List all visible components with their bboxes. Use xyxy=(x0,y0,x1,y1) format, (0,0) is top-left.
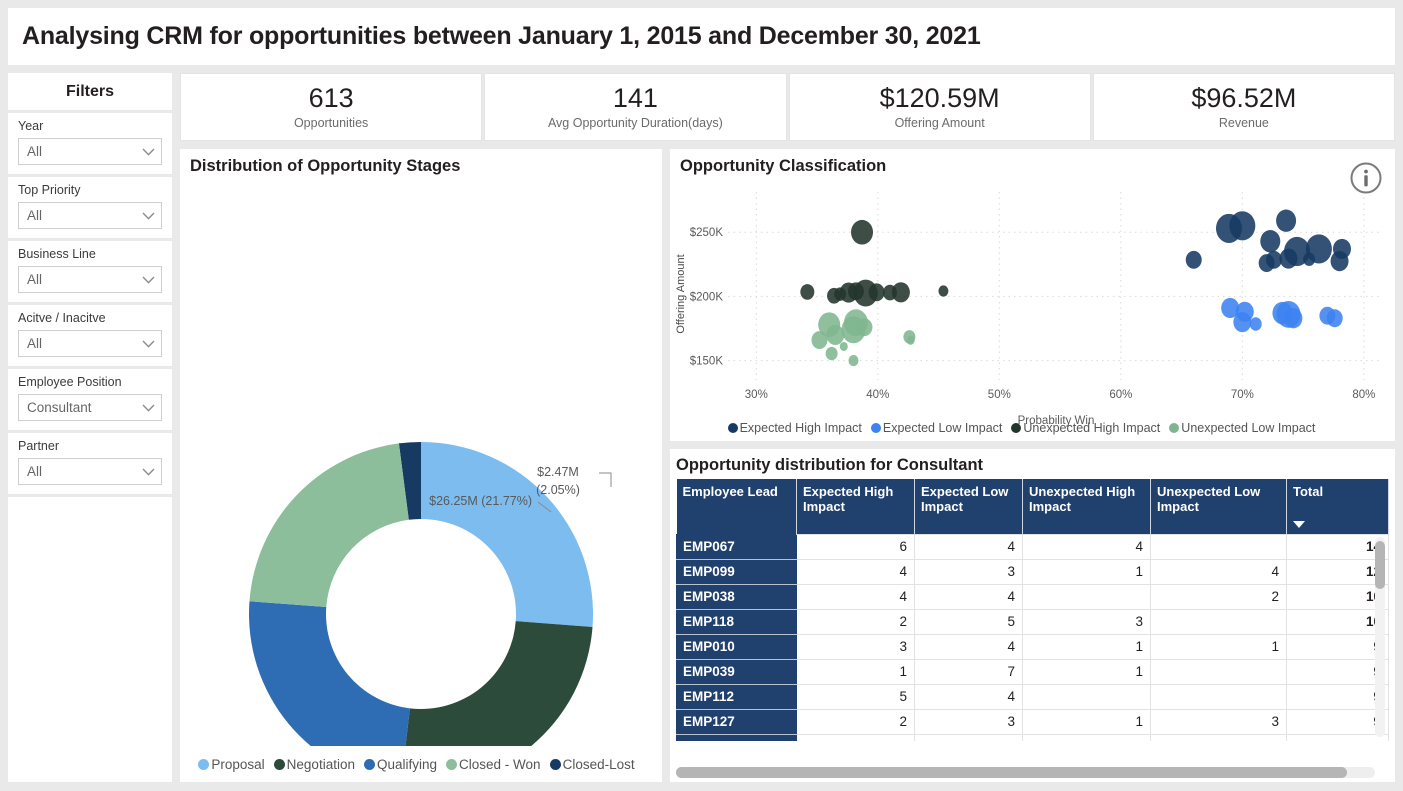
scatter-point[interactable] xyxy=(892,282,910,302)
scatter-xaxis-tick: 60% xyxy=(1109,389,1132,401)
filter-top-priority-label: Top Priority xyxy=(18,183,162,197)
table-row[interactable]: EMP06764414 xyxy=(677,534,1389,559)
filter-employee-position-label: Employee Position xyxy=(18,375,162,389)
table-cell-unexpected-high-impact xyxy=(1023,584,1151,609)
legend-label: Expected High Impact xyxy=(740,421,862,435)
kpi-revenue-label: Revenue xyxy=(1219,116,1269,130)
filter-year: Year All xyxy=(8,113,172,177)
filter-top-priority-value: All xyxy=(27,208,42,223)
scatter-point[interactable] xyxy=(1233,312,1251,332)
table-cell-expected-low-impact: 3 xyxy=(915,709,1023,734)
table-cell-unexpected-low-impact xyxy=(1151,534,1287,559)
scatter-point[interactable] xyxy=(849,355,859,366)
donut-chart[interactable]: $2.47M(2.05%)$31.6M (26.2%)$30.94M (25.6… xyxy=(180,176,662,746)
scatter-point[interactable] xyxy=(840,342,848,351)
column-header-employee-lead[interactable]: Employee Lead xyxy=(677,479,797,534)
table-cell-unexpected-low-impact xyxy=(1151,734,1287,741)
table-cell-unexpected-high-impact: 1 xyxy=(1023,734,1151,741)
dashboard-title-bar: Analysing CRM for opportunities between … xyxy=(8,8,1395,65)
table-horizontal-scroll-thumb[interactable] xyxy=(676,767,1347,778)
scatter-yaxis-label: Offering Amount xyxy=(675,254,687,333)
scatter-xaxis-tick: 80% xyxy=(1352,389,1375,401)
legend-label: Qualifying xyxy=(377,757,437,772)
legend-label: Negotiation xyxy=(287,757,355,772)
legend-color-dot xyxy=(446,759,457,770)
donut-chart-title: Distribution of Opportunity Stages xyxy=(180,149,662,176)
table-cell-total: 9 xyxy=(1287,684,1389,709)
donut-label-leader-line xyxy=(599,473,611,487)
filter-active-inactive: Acitve / Inacitve All xyxy=(8,305,172,369)
filter-active-inactive-label: Acitve / Inacitve xyxy=(18,311,162,325)
table-cell-expected-low-impact: 4 xyxy=(915,684,1023,709)
scatter-point[interactable] xyxy=(1250,317,1262,330)
table-cell-employee-lead: EMP010 xyxy=(677,634,797,659)
scatter-point[interactable] xyxy=(869,283,885,301)
table-cell-unexpected-high-impact: 3 xyxy=(1023,609,1151,634)
column-header-expected-high-impact[interactable]: Expected High Impact xyxy=(797,479,915,534)
filter-employee-position-dropdown[interactable]: Consultant xyxy=(18,394,162,421)
kpi-row: 613 Opportunities 141 Avg Opportunity Du… xyxy=(180,73,1395,141)
table-cell-employee-lead: EMP118 xyxy=(677,609,797,634)
filter-partner-value: All xyxy=(27,464,42,479)
legend-color-dot xyxy=(550,759,561,770)
table-cell-unexpected-high-impact: 1 xyxy=(1023,709,1151,734)
table-cell-employee-lead: EMP127 xyxy=(677,709,797,734)
scatter-yaxis-tick: $150K xyxy=(690,356,724,368)
legend-label: Unexpected Low Impact xyxy=(1181,421,1315,435)
table-cell-employee-lead: EMP019 xyxy=(677,734,797,741)
scatter-yaxis-tick: $200K xyxy=(690,291,724,303)
sort-descending-icon[interactable] xyxy=(1293,521,1305,528)
table-cell-expected-high-impact: 2 xyxy=(797,609,915,634)
filter-year-label: Year xyxy=(18,119,162,133)
legend-item[interactable]: Negotiation xyxy=(274,757,355,772)
filter-business-line-label: Business Line xyxy=(18,247,162,261)
column-header-unexpected-low-impact[interactable]: Unexpected Low Impact xyxy=(1151,479,1287,534)
table-cell-unexpected-low-impact: 2 xyxy=(1151,584,1287,609)
chevron-down-icon xyxy=(142,276,155,284)
legend-label: Proposal xyxy=(211,757,264,772)
scatter-xaxis-tick: 30% xyxy=(745,389,768,401)
table-cell-expected-high-impact: 1 xyxy=(797,659,915,684)
table-cell-unexpected-low-impact: 4 xyxy=(1151,559,1287,584)
scatter-xaxis-tick: 50% xyxy=(988,389,1011,401)
column-header-total-label: Total xyxy=(1293,484,1323,499)
table-row[interactable]: EMP11825310 xyxy=(677,609,1389,634)
table-cell-expected-high-impact: 4 xyxy=(797,559,915,584)
filter-business-line-dropdown[interactable]: All xyxy=(18,266,162,293)
table-row[interactable]: EMP0391719 xyxy=(677,659,1389,684)
table-cell-unexpected-high-impact: 1 xyxy=(1023,634,1151,659)
kpi-offering-amount-value: $120.59M xyxy=(880,84,1000,112)
kpi-opportunities[interactable]: 613 Opportunities xyxy=(180,73,482,141)
table-cell-expected-low-impact: 4 xyxy=(915,734,1023,741)
scatter-point[interactable] xyxy=(1284,308,1302,328)
table-cell-expected-low-impact: 3 xyxy=(915,559,1023,584)
legend-label: Closed - Won xyxy=(459,757,541,772)
legend-item[interactable]: Qualifying xyxy=(364,757,437,772)
scatter-point[interactable] xyxy=(1327,309,1343,327)
scatter-point[interactable] xyxy=(826,325,844,345)
column-header-total[interactable]: Total xyxy=(1287,479,1389,534)
scatter-point[interactable] xyxy=(1186,251,1202,269)
chevron-down-icon xyxy=(142,340,155,348)
table-row[interactable]: EMP0193418 xyxy=(677,734,1389,741)
legend-item[interactable]: Closed - Won xyxy=(446,757,541,772)
table-cell-total: 9 xyxy=(1287,659,1389,684)
scatter-point[interactable] xyxy=(1280,248,1298,268)
table-vertical-scrollbar[interactable] xyxy=(1375,541,1385,589)
scatter-point[interactable] xyxy=(1276,209,1296,231)
table-cell-expected-high-impact: 5 xyxy=(797,684,915,709)
legend-item[interactable]: Expected Low Impact xyxy=(871,421,1003,435)
scatter-point[interactable] xyxy=(1229,211,1255,240)
scatter-point[interactable] xyxy=(811,331,827,349)
scatter-xaxis-tick: 40% xyxy=(866,389,889,401)
table-title: Opportunity distribution for Consultant xyxy=(670,449,1395,479)
filters-sidebar: Filters Year All Top Priority All Busine… xyxy=(8,73,172,782)
table-cell-unexpected-high-impact xyxy=(1023,684,1151,709)
legend-color-dot xyxy=(364,759,375,770)
table-row[interactable]: EMP01034119 xyxy=(677,634,1389,659)
scatter-point[interactable] xyxy=(1331,251,1349,271)
chevron-down-icon xyxy=(142,148,155,156)
column-header-unexpected-high-impact[interactable]: Unexpected High Impact xyxy=(1023,479,1151,534)
kpi-avg-duration-value: 141 xyxy=(613,84,658,112)
filter-active-inactive-value: All xyxy=(27,336,42,351)
table-cell-total: 9 xyxy=(1287,634,1389,659)
scatter-point[interactable] xyxy=(856,318,872,336)
table-cell-unexpected-low-impact: 3 xyxy=(1151,709,1287,734)
table-cell-total: 14 xyxy=(1287,534,1389,559)
donut-slice-label: $2.47M xyxy=(537,465,579,479)
scatter-point[interactable] xyxy=(800,284,814,300)
right-column: Opportunity Classification 30%40%50%60%7… xyxy=(670,149,1395,782)
table-row[interactable]: EMP099431412 xyxy=(677,559,1389,584)
table-cell-unexpected-low-impact: 1 xyxy=(1151,634,1287,659)
chevron-down-icon xyxy=(142,468,155,476)
scatter-point[interactable] xyxy=(1303,252,1315,265)
donut-slice-label: (2.05%) xyxy=(536,483,580,497)
legend-color-dot xyxy=(1169,423,1179,433)
dashboard-page: Analysing CRM for opportunities between … xyxy=(0,0,1403,791)
table-cell-expected-low-impact: 7 xyxy=(915,659,1023,684)
filter-active-inactive-dropdown[interactable]: All xyxy=(18,330,162,357)
legend-item[interactable]: Closed-Lost xyxy=(550,757,635,772)
page-title: Analysing CRM for opportunities between … xyxy=(22,22,981,51)
kpi-opportunities-label: Opportunities xyxy=(294,116,368,130)
table-cell-expected-high-impact: 2 xyxy=(797,709,915,734)
chevron-down-icon xyxy=(142,212,155,220)
scatter-point[interactable] xyxy=(907,336,915,345)
table-cell-expected-low-impact: 4 xyxy=(915,534,1023,559)
scatter-plot-svg[interactable]: 30%40%50%60%70%80%$150K$200K$250K Probab… xyxy=(670,176,1382,434)
scatter-point[interactable] xyxy=(938,285,948,296)
legend-label: Expected Low Impact xyxy=(883,421,1003,435)
table-cell-expected-high-impact: 3 xyxy=(797,634,915,659)
table-cell-total: 9 xyxy=(1287,709,1389,734)
scatter-chart-title: Opportunity Classification xyxy=(670,149,1395,176)
legend-label: Unexpected High Impact xyxy=(1023,421,1160,435)
scatter-xaxis-tick: 70% xyxy=(1231,389,1254,401)
opportunity-distribution-panel: Opportunity distribution for Consultant … xyxy=(670,449,1395,782)
filter-year-dropdown[interactable]: All xyxy=(18,138,162,165)
info-icon[interactable] xyxy=(1349,161,1383,195)
filters-heading: Filters xyxy=(8,73,172,113)
legend-item[interactable]: Expected High Impact xyxy=(728,421,862,435)
table-cell-total: 10 xyxy=(1287,584,1389,609)
legend-color-dot xyxy=(274,759,285,770)
filter-top-priority: Top Priority All xyxy=(8,177,172,241)
opportunity-stages-panel: Distribution of Opportunity Stages $2.47… xyxy=(180,149,662,782)
table-cell-total: 12 xyxy=(1287,559,1389,584)
filter-employee-position-value: Consultant xyxy=(27,400,92,415)
donut-legend: ProposalNegotiationQualifyingClosed - Wo… xyxy=(180,757,662,772)
donut-slice[interactable] xyxy=(401,621,593,746)
opportunity-distribution-table: Employee Lead Expected High Impact Expec… xyxy=(676,479,1389,741)
main-content: 613 Opportunities 141 Avg Opportunity Du… xyxy=(180,73,1395,782)
table-cell-unexpected-low-impact xyxy=(1151,609,1287,634)
filter-business-line-value: All xyxy=(27,272,42,287)
kpi-offering-amount[interactable]: $120.59M Offering Amount xyxy=(789,73,1091,141)
kpi-avg-duration[interactable]: 141 Avg Opportunity Duration(days) xyxy=(484,73,786,141)
scatter-legend: Expected High ImpactExpected Low ImpactU… xyxy=(670,421,1382,435)
table-row[interactable]: EMP112549 xyxy=(677,684,1389,709)
table-cell-expected-low-impact: 5 xyxy=(915,609,1023,634)
donut-slice-label: $26.25M (21.77%) xyxy=(429,494,532,508)
charts-row: Distribution of Opportunity Stages $2.47… xyxy=(180,149,1395,782)
opportunity-classification-panel: Opportunity Classification 30%40%50%60%7… xyxy=(670,149,1395,441)
kpi-revenue-value: $96.52M xyxy=(1191,84,1296,112)
donut-chart-svg: $2.47M(2.05%)$31.6M (26.2%)$30.94M (25.6… xyxy=(180,176,662,746)
filter-business-line: Business Line All xyxy=(8,241,172,305)
table-row[interactable]: EMP12723139 xyxy=(677,709,1389,734)
legend-item[interactable]: Unexpected Low Impact xyxy=(1169,421,1315,435)
legend-color-dot xyxy=(198,759,209,770)
table-cell-total: 10 xyxy=(1287,609,1389,634)
kpi-opportunities-value: 613 xyxy=(309,84,354,112)
table-cell-expected-high-impact: 3 xyxy=(797,734,915,741)
table-cell-expected-low-impact: 4 xyxy=(915,634,1023,659)
legend-item[interactable]: Unexpected High Impact xyxy=(1011,421,1160,435)
scatter-point[interactable] xyxy=(1259,254,1275,272)
table-cell-employee-lead: EMP099 xyxy=(677,559,797,584)
donut-slice[interactable] xyxy=(249,601,410,746)
sidebar-empty-space xyxy=(8,497,172,782)
column-header-expected-low-impact[interactable]: Expected Low Impact xyxy=(915,479,1023,534)
scatter-yaxis-tick: $250K xyxy=(690,227,724,239)
table-cell-unexpected-high-impact: 4 xyxy=(1023,534,1151,559)
table-cell-unexpected-high-impact: 1 xyxy=(1023,559,1151,584)
filter-partner: Partner All xyxy=(8,433,172,497)
table-row[interactable]: EMP03844210 xyxy=(677,584,1389,609)
kpi-avg-duration-label: Avg Opportunity Duration(days) xyxy=(548,116,723,130)
table-cell-unexpected-low-impact xyxy=(1151,684,1287,709)
filter-top-priority-dropdown[interactable]: All xyxy=(18,202,162,229)
filter-partner-dropdown[interactable]: All xyxy=(18,458,162,485)
filter-employee-position: Employee Position Consultant xyxy=(8,369,172,433)
kpi-offering-amount-label: Offering Amount xyxy=(895,116,985,130)
table-horizontal-scrollbar[interactable] xyxy=(676,767,1375,778)
legend-color-dot xyxy=(728,423,738,433)
filter-partner-label: Partner xyxy=(18,439,162,453)
table-cell-employee-lead: EMP112 xyxy=(677,684,797,709)
table-cell-employee-lead: EMP067 xyxy=(677,534,797,559)
chevron-down-icon xyxy=(142,404,155,412)
filter-year-value: All xyxy=(27,144,42,159)
legend-color-dot xyxy=(1011,423,1021,433)
kpi-revenue[interactable]: $96.52M Revenue xyxy=(1093,73,1395,141)
legend-item[interactable]: Proposal xyxy=(198,757,264,772)
dashboard-body: Filters Year All Top Priority All Busine… xyxy=(8,73,1395,782)
table-cell-expected-low-impact: 4 xyxy=(915,584,1023,609)
legend-color-dot xyxy=(871,423,881,433)
table-cell-employee-lead: EMP038 xyxy=(677,584,797,609)
table-header-row: Employee Lead Expected High Impact Expec… xyxy=(677,479,1389,534)
table-cell-expected-high-impact: 4 xyxy=(797,584,915,609)
table-cell-employee-lead: EMP039 xyxy=(677,659,797,684)
legend-label: Closed-Lost xyxy=(563,757,635,772)
scatter-point[interactable] xyxy=(826,347,838,360)
table-cell-total: 8 xyxy=(1287,734,1389,741)
donut-slice[interactable] xyxy=(249,443,408,607)
scatter-point[interactable] xyxy=(851,220,873,245)
table-cell-unexpected-low-impact xyxy=(1151,659,1287,684)
table-cell-expected-high-impact: 6 xyxy=(797,534,915,559)
table-scroll-region[interactable]: Employee Lead Expected High Impact Expec… xyxy=(676,479,1389,741)
table-cell-unexpected-high-impact: 1 xyxy=(1023,659,1151,684)
scatter-point[interactable] xyxy=(1260,230,1280,252)
